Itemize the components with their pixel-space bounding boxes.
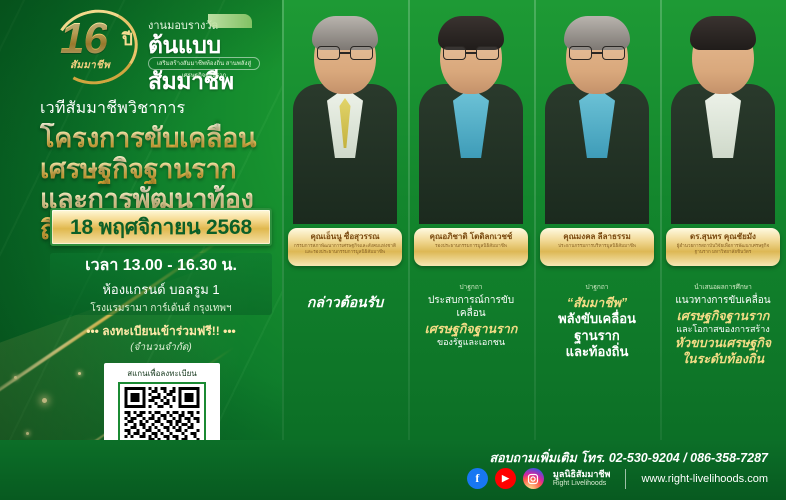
event-time: เวลา 13.00 - 16.30 น. [85,253,237,278]
event-title-line2: เศรษฐกิจฐานราก [40,154,280,185]
footer-contact-bar: สอบถามเพิ่มเติม โทร. 02-530-9204 / 086-3… [0,440,786,500]
logo-year-sub: สัมมาชีพ [70,58,110,73]
topic-kicker: ปาฐกถา [540,282,654,292]
speaker-nameplate: คุณอภิชาติ โตดิลกเวชช์ รองประธานกรรมการม… [414,228,528,266]
topic-line: เศรษฐกิจฐานราก [414,321,528,337]
speaker-name: คุณมงคล ลีลาธรรม [563,232,630,241]
event-kicker: เวทีสัมมาชีพวิชาการ [40,96,280,121]
event-date-badge: 18 พฤศจิกายน 2568 [50,208,272,246]
glasses-icon [443,46,499,60]
hair-shape [564,16,630,50]
speaker-portrait [293,16,397,222]
speaker-panel: ดร.สุนทร คุณชัยมัง ผู้อำนวยการสถาบันวิจั… [660,0,786,440]
event-logo: 16 ปี สัมมาชีพ งานมอบรางวัล ต้นแบบสัมมาช… [60,8,260,86]
speaker-name: คุณอภิชาติ โตดิลกเวชช์ [430,232,513,241]
speaker-name: คุณเอ็นนู ซื่อสุวรรณ [310,232,379,241]
qr-label: สแกนเพื่อลงทะเบียน [127,367,197,380]
event-room: ห้องแกรนด์ บอลรูม 1 [102,279,219,300]
topic-line: และโอกาสของการสร้าง [666,324,780,336]
topic-line: ในระดับท้องถิ่น [666,351,780,367]
topic-line: หัวขบวนเศรษฐกิจ [666,335,780,351]
panel-divider [534,0,536,440]
speaker-nameplate: คุณเอ็นนู ซื่อสุวรรณ กรรมการสภาพัฒนาการเ… [288,228,402,266]
glasses-icon [317,46,373,60]
topic-line: ประสบการณ์การขับเคลื่อน [414,295,528,321]
speaker-panel: คุณมงคล ลีลาธรรม ประธานกรรมการบริหารมูลน… [534,0,660,440]
glasses-icon [569,46,625,60]
speaker-portrait [419,16,523,222]
brand-thai: มูลนิธิสัมมาชีพ [553,470,611,480]
speaker-portrait [545,16,649,222]
rice-sheaf-icon [208,14,252,28]
topic-line: เศรษฐกิจฐานราก [666,308,780,324]
youtube-icon[interactable]: ▶ [495,468,516,489]
speaker-nameplate: ดร.สุนทร คุณชัยมัง ผู้อำนวยการสถาบันวิจั… [666,228,780,266]
topic-line: แนวทางการขับเคลื่อน [666,295,780,308]
speaker-topic-welcome: กล่าวต้อนรับ [282,292,408,314]
speaker-panel: คุณเอ็นนู ซื่อสุวรรณ กรรมการสภาพัฒนาการเ… [282,0,408,440]
limited-seats-note: (จำนวนจำกัด) [50,340,272,355]
event-poster: 16 ปี สัมมาชีพ งานมอบรางวัล ต้นแบบสัมมาช… [0,0,786,500]
event-date: 18 พฤศจิกายน 2568 [70,211,252,244]
speaker-role: ประธานกรรมการบริหารมูลนิธิสัมมาชีพ [558,243,636,249]
foundation-brand: มูลนิธิสัมมาชีพ Right Livelihoods [553,470,611,488]
facebook-icon[interactable]: f [467,468,488,489]
topic-kicker: ปาฐกถา [414,282,528,292]
speaker-role: ผู้อำนวยการสถาบันวิจัยเพื่อการพัฒนาเศรษฐ… [671,243,775,255]
speaker-panel: คุณอภิชาติ โตดิลกเวชช์ รองประธานกรรมการม… [408,0,534,440]
brand-english: Right Livelihoods [553,480,611,488]
speaker-panels: คุณเอ็นนู ซื่อสุวรรณ กรรมการสภาพัฒนาการเ… [282,0,786,440]
topic-kicker: นำเสนอผลการศึกษา [666,282,780,292]
logo-tagline: เสริมสร้างสัมมาชีพท้องถิ่น สานพลังสู่เศร… [148,57,260,70]
speaker-role: รองประธานกรรมการมูลนิธิสัมมาชีพ [435,243,507,249]
social-links: f ▶ มูลนิธิสัมมาชีพ Right Livelihoods ww… [467,468,768,489]
topic-line: “สัมมาชีพ” [540,295,654,311]
divider [625,469,626,489]
topic-line: ของรัฐและเอกชน [414,337,528,349]
event-title-line1: โครงการขับเคลื่อน [40,123,280,154]
contact-phone-line: สอบถามเพิ่มเติม โทร. 02-530-9204 / 086-3… [489,448,768,468]
speaker-topic: ปาฐกถา ประสบการณ์การขับเคลื่อน เศรษฐกิจฐ… [414,282,528,348]
panel-divider [282,0,284,440]
topic-line: พลังขับเคลื่อนฐานราก [540,311,654,344]
event-time-venue-card: เวลา 13.00 - 16.30 น. ห้องแกรนด์ บอลรูม … [50,253,272,315]
panel-divider [660,0,662,440]
event-venue: โรงแรมรามา การ์เด้นส์ กรุงเทพฯ [90,301,231,316]
hair-shape [312,16,378,50]
panel-divider [408,0,410,440]
speaker-topic: นำเสนอผลการศึกษา แนวทางการขับเคลื่อน เศร… [666,282,780,367]
topic-line: และท้องถิ่น [540,344,654,361]
speaker-name: ดร.สุนทร คุณชัยมัง [690,232,756,241]
speaker-portrait [671,16,775,222]
speaker-topic: ปาฐกถา “สัมมาชีพ” พลังขับเคลื่อนฐานราก แ… [540,282,654,361]
hair-shape [690,16,756,50]
instagram-icon[interactable] [523,468,544,489]
speaker-role: กรรมการสภาพัฒนาการเศรษฐกิจและสังคมแห่งชา… [293,243,397,255]
website-url[interactable]: www.right-livelihoods.com [641,473,768,485]
hair-shape [438,16,504,50]
logo-years: 16 [60,14,107,64]
logo-year-unit: ปี [122,26,133,53]
speaker-nameplate: คุณมงคล ลีลาธรรม ประธานกรรมการบริหารมูลน… [540,228,654,266]
free-registration-note: ••• ลงทะเบียนเข้าร่วมฟรี!! ••• [50,322,272,341]
